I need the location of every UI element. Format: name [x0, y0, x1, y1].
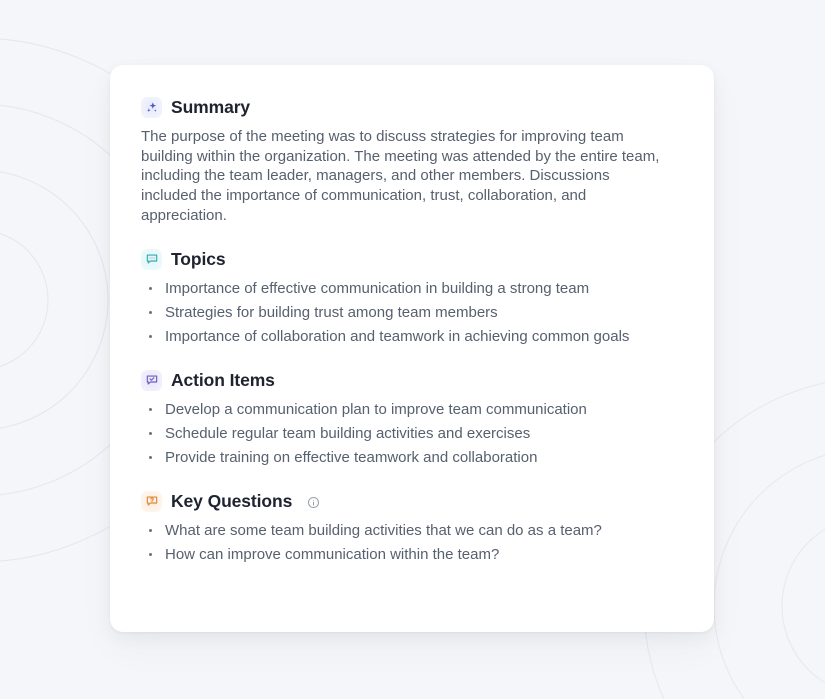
section-action-items: Action Items Develop a communication pla… [141, 370, 686, 468]
key-questions-list: What are some team building activities t… [141, 521, 686, 565]
action-items-list: Develop a communication plan to improve … [141, 400, 686, 468]
list-item: Schedule regular team building activitie… [141, 424, 661, 444]
list-item: Importance of collaboration and teamwork… [141, 327, 661, 347]
meeting-summary-card: Summary The purpose of the meeting was t… [110, 65, 714, 632]
section-header-action-items: Action Items [141, 370, 686, 391]
list-item: Strategies for building trust among team… [141, 303, 661, 323]
section-title-topics: Topics [171, 249, 226, 270]
speech-bubble-check-icon [141, 370, 162, 391]
sparkle-icon [141, 97, 162, 118]
topics-list: Importance of effective communication in… [141, 279, 686, 347]
section-header-summary: Summary [141, 97, 686, 118]
list-item: Importance of effective communication in… [141, 279, 661, 299]
list-item: Provide training on effective teamwork a… [141, 448, 661, 468]
list-item: Develop a communication plan to improve … [141, 400, 661, 420]
section-topics: Topics Importance of effective communica… [141, 249, 686, 347]
section-key-questions: Key Questions What are some team buildin… [141, 491, 686, 565]
section-summary: Summary The purpose of the meeting was t… [141, 97, 686, 226]
section-title-summary: Summary [171, 97, 250, 118]
section-title-action-items: Action Items [171, 370, 275, 391]
summary-paragraph: The purpose of the meeting was to discus… [141, 127, 661, 226]
speech-bubble-dots-icon [141, 249, 162, 270]
section-header-key-questions: Key Questions [141, 491, 686, 512]
section-title-key-questions: Key Questions [171, 491, 292, 512]
list-item: What are some team building activities t… [141, 521, 661, 541]
section-header-topics: Topics [141, 249, 686, 270]
info-circle-icon[interactable] [307, 496, 320, 509]
speech-bubble-question-icon [141, 491, 162, 512]
list-item: How can improve communication within the… [141, 545, 661, 565]
